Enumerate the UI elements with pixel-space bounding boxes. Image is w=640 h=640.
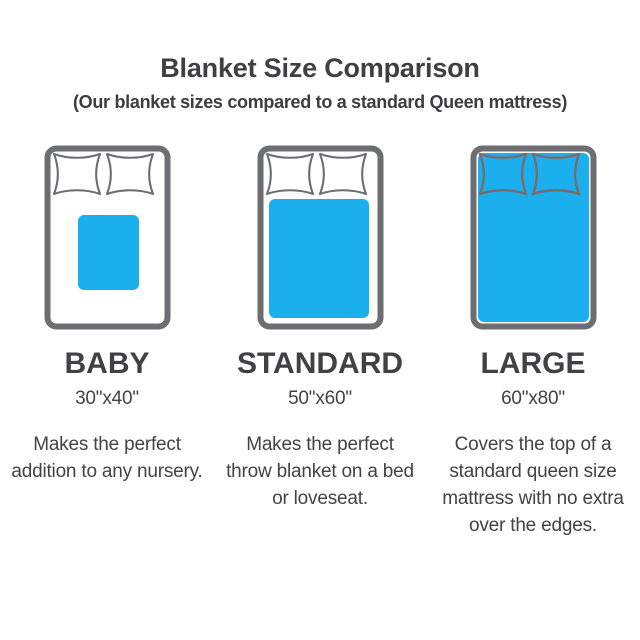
bed-top-view-icon: [470, 145, 597, 335]
size-name-standard: STANDARD: [237, 349, 403, 379]
bed-top-view-icon: [257, 145, 384, 335]
size-dimensions-large: 60"x80": [501, 389, 565, 408]
pillow-right: [320, 154, 366, 194]
bed-diagram-large: [470, 145, 597, 335]
bed-diagram-baby: [44, 145, 171, 335]
size-dimensions-standard: 50"x60": [288, 389, 352, 408]
size-column-standard: STANDARD 50"x60" Makes the perfect throw…: [214, 145, 427, 513]
header: Blanket Size Comparison (Our blanket siz…: [0, 0, 640, 112]
size-column-large: LARGE 60"x80" Covers the top of a standa…: [427, 145, 640, 540]
size-description-large: Covers the top of a standard queen size …: [435, 432, 631, 540]
pillow-right: [107, 154, 153, 194]
size-name-large: LARGE: [481, 349, 586, 379]
bed-diagram-standard: [257, 145, 384, 335]
size-comparison-columns: BABY 30"x40" Makes the perfect addition …: [0, 145, 640, 540]
size-dimensions-baby: 30"x40": [75, 389, 139, 408]
bed-top-view-icon: [44, 145, 171, 335]
blanket-overlay: [78, 215, 139, 290]
size-description-standard: Makes the perfect throw blanket on a bed…: [222, 432, 418, 513]
size-column-baby: BABY 30"x40" Makes the perfect addition …: [1, 145, 214, 486]
size-description-baby: Makes the perfect addition to any nurser…: [9, 432, 205, 486]
blanket-overlay: [269, 199, 369, 318]
page-title: Blanket Size Comparison: [0, 54, 640, 84]
page-subtitle: (Our blanket sizes compared to a standar…: [0, 93, 640, 113]
blanket-overlay: [478, 153, 589, 322]
size-name-baby: BABY: [64, 349, 149, 379]
pillow-left: [267, 154, 313, 194]
pillow-left: [54, 154, 100, 194]
